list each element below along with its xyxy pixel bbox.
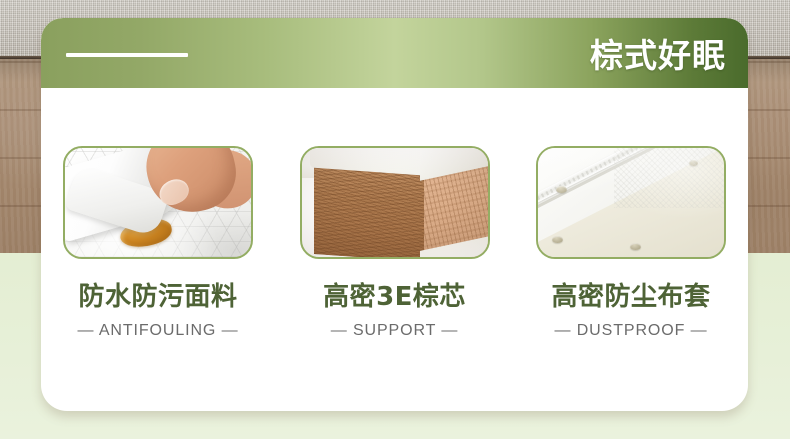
horizontal-rule-icon — [66, 53, 188, 57]
feature-card: 棕式好眠 防水防污面料 — ANTIFOULING — — [41, 18, 748, 411]
feature-list: 防水防污面料 — ANTIFOULING — 高密3E棕芯 — SUPPORT … — [41, 88, 748, 411]
feature-photo-antifouling — [63, 146, 253, 259]
feature-title: 高密3E棕芯 — [323, 284, 466, 310]
feature-photo-support — [300, 146, 490, 259]
feature-item-support: 高密3E棕芯 — SUPPORT — — [292, 88, 498, 339]
feature-title: 防水防污面料 — [78, 284, 237, 310]
feature-subtitle: — SUPPORT — — [331, 323, 459, 339]
feature-item-dustproof: 高密防尘布套 — DUSTPROOF — — [528, 88, 734, 339]
page-title: 棕式好眠 — [590, 29, 726, 77]
feature-title: 高密防尘布套 — [551, 284, 710, 310]
feature-subtitle: — DUSTPROOF — — [554, 323, 707, 339]
photo-vignette — [302, 148, 488, 257]
feature-item-antifouling: 防水防污面料 — ANTIFOULING — — [55, 88, 261, 339]
feature-subtitle: — ANTIFOULING — — [77, 323, 238, 339]
feature-photo-dustproof — [536, 146, 726, 259]
fabric-sheen — [538, 148, 724, 257]
card-header-banner: 棕式好眠 — [41, 18, 748, 88]
